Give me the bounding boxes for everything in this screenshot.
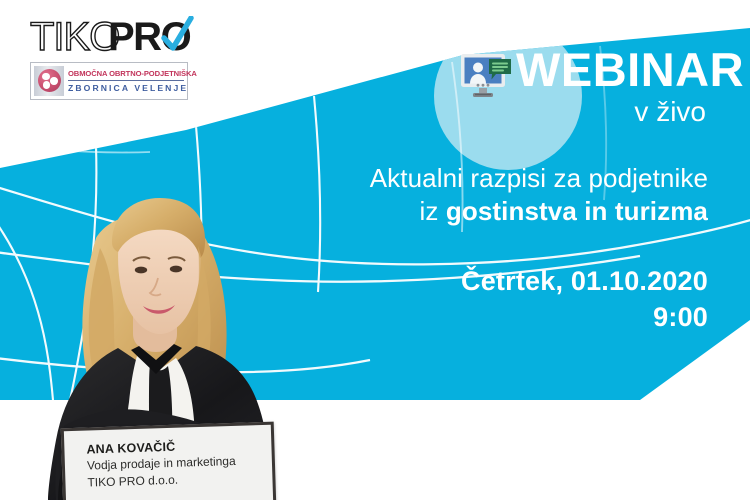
webinar-monitor-icon — [459, 52, 515, 104]
event-datetime: Četrtek, 01.10.2020 9:00 — [288, 263, 708, 335]
webinar-heading-block: WEBINAR v živo — [516, 44, 736, 128]
chamber-logo-line2: ZBORNICA VELENJE — [68, 81, 184, 94]
checkmark-icon — [160, 16, 194, 56]
chamber-logo: OBMOČNA OBRTNO-PODJETNIŠKA ZBORNICA VELE… — [30, 62, 188, 100]
banner-canvas: TIKO PRO OBMOČNA OBRTNO-PODJETNIŠKA ZBOR… — [0, 0, 750, 500]
chamber-logo-line1: OBMOČNA OBRTNO-PODJETNIŠKA — [68, 68, 184, 81]
webinar-subtitle: v živo — [516, 96, 736, 128]
headline: Aktualni razpisi za podjetnike iz gostin… — [238, 162, 708, 228]
headline-line-1: Aktualni razpisi za podjetnike — [238, 162, 708, 195]
event-time: 9:00 — [288, 299, 708, 335]
headline-line-2-emphasis: gostinstva in turizma — [446, 196, 708, 226]
speaker-name-card: ANA KOVAČIČ Vodja prodaje in marketinga … — [61, 422, 276, 500]
event-date: Četrtek, 01.10.2020 — [288, 263, 708, 299]
tikopro-logo-text-thin: TIKO — [30, 16, 119, 58]
headline-line-2: iz gostinstva in turizma — [238, 195, 708, 228]
webinar-title: WEBINAR — [516, 44, 736, 96]
tikopro-logo: TIKO PRO — [30, 16, 190, 58]
chamber-emblem-icon — [34, 66, 64, 96]
headline-line-2-prefix: iz — [420, 196, 446, 226]
